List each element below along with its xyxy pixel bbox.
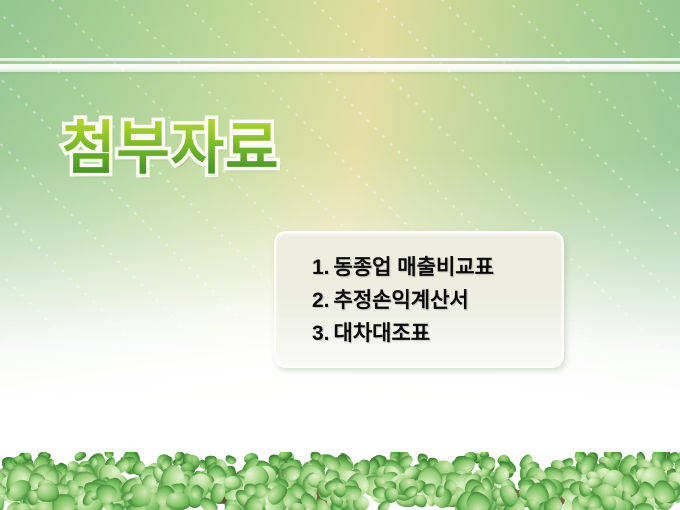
leaf	[224, 476, 242, 491]
leaf	[37, 483, 60, 502]
leaf	[243, 483, 256, 495]
stripe-thick-line	[0, 64, 680, 72]
foliage-border	[0, 452, 680, 510]
presentation-slide: 첨부자료 첨부자료 1.동종업 매출비교표 2.추정손익계산서 3.대차대조표	[0, 0, 680, 510]
list-item: 3.대차대조표	[312, 317, 554, 350]
list-item-label: 동종업 매출비교표	[334, 256, 494, 279]
top-decorative-stripe	[0, 58, 680, 74]
list-item-number: 1.	[312, 256, 330, 279]
list-item: 1.동종업 매출비교표	[312, 251, 554, 284]
stripe-shadow	[0, 72, 680, 76]
page-title: 첨부자료 첨부자료	[62, 116, 279, 183]
attachment-list: 1.동종업 매출비교표 2.추정손익계산서 3.대차대조표	[312, 251, 554, 350]
page-title-text: 첨부자료	[62, 116, 279, 181]
list-item-label: 대차대조표	[334, 322, 431, 345]
list-item-label: 추정손익계산서	[334, 289, 469, 312]
list-item: 2.추정손익계산서	[312, 284, 554, 317]
list-item-number: 3.	[312, 322, 330, 345]
attachment-list-box: 1.동종업 매출비교표 2.추정손익계산서 3.대차대조표	[274, 231, 564, 368]
list-item-number: 2.	[312, 289, 330, 312]
